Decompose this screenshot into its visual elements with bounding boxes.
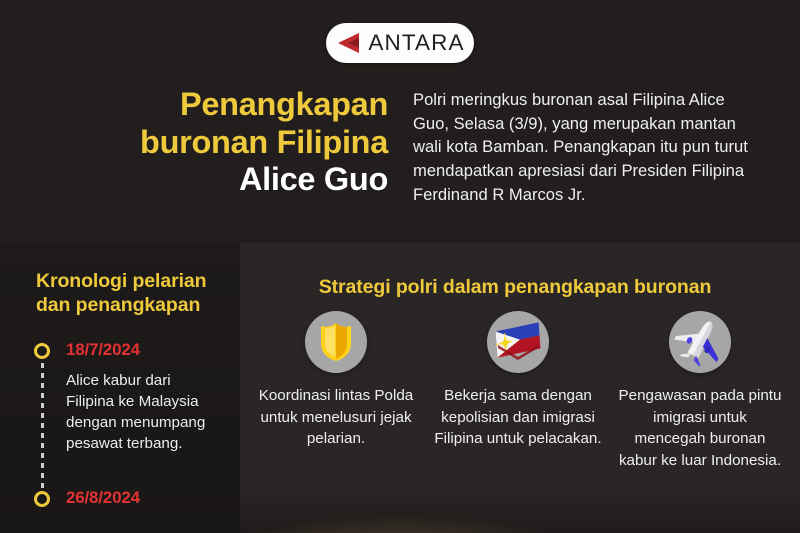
page-title-line-3: Alice Guo [40, 161, 388, 199]
strategy-card-text: Pengawasan pada pintu imigrasi untuk men… [616, 385, 784, 471]
timeline-date: 26/8/2024 [66, 489, 240, 508]
airplane-icon [669, 311, 731, 373]
strategy-card: Pengawasan pada pintu imigrasi untuk men… [616, 311, 784, 471]
timeline-item: 26/8/2024 [34, 489, 240, 508]
strategy-card-text: Koordinasi lintas Polda untuk menelusuri… [252, 385, 420, 450]
timeline-marker-icon [34, 491, 50, 507]
antara-logo-text: ANTARA [368, 30, 464, 56]
chronology-timeline: 18/7/2024 Alice kabur dari Filipina ke M… [34, 341, 240, 507]
strategy-card-list: Koordinasi lintas Polda untuk menelusuri… [252, 311, 784, 471]
strategy-card: Bekerja sama dengan kepolisian dan imigr… [434, 311, 602, 471]
chronology-title: Kronologi pelarian dan penangkapan [36, 269, 236, 317]
strategy-card-icon-wrap [252, 311, 420, 373]
infographic-canvas: ANTARA Penangkapan buronan Filipina Alic… [0, 0, 800, 533]
chronology-panel: Kronologi pelarian dan penangkapan 18/7/… [0, 243, 240, 533]
strategy-card: Koordinasi lintas Polda untuk menelusuri… [252, 311, 420, 471]
timeline-text: Alice kabur dari Filipina ke Malaysia de… [66, 371, 216, 455]
header-band: ANTARA Penangkapan buronan Filipina Alic… [0, 0, 800, 243]
timeline-item: 18/7/2024 Alice kabur dari Filipina ke M… [34, 341, 240, 455]
antara-logo: ANTARA [326, 23, 474, 63]
timeline-connector-line [41, 363, 44, 491]
strategy-card-icon-wrap [434, 311, 602, 373]
philippines-flag-icon [487, 311, 549, 373]
page-title-line-2: buronan Filipina [40, 124, 388, 162]
strategy-card-text: Bekerja sama dengan kepolisian dan imigr… [434, 385, 602, 450]
strategy-title: Strategi polri dalam penangkapan buronan [250, 276, 780, 299]
shield-icon [305, 311, 367, 373]
page-title-line-1: Penangkapan [40, 86, 388, 124]
timeline-date: 18/7/2024 [66, 341, 240, 360]
content-area: Kronologi pelarian dan penangkapan 18/7/… [0, 243, 800, 533]
timeline-marker-icon [34, 343, 50, 359]
antara-triangle-logo-icon [335, 31, 361, 55]
strategy-card-icon-wrap [616, 311, 784, 373]
page-title: Penangkapan buronan Filipina Alice Guo [40, 86, 388, 199]
header-description: Polri meringkus buronan asal Filipina Al… [413, 88, 765, 207]
